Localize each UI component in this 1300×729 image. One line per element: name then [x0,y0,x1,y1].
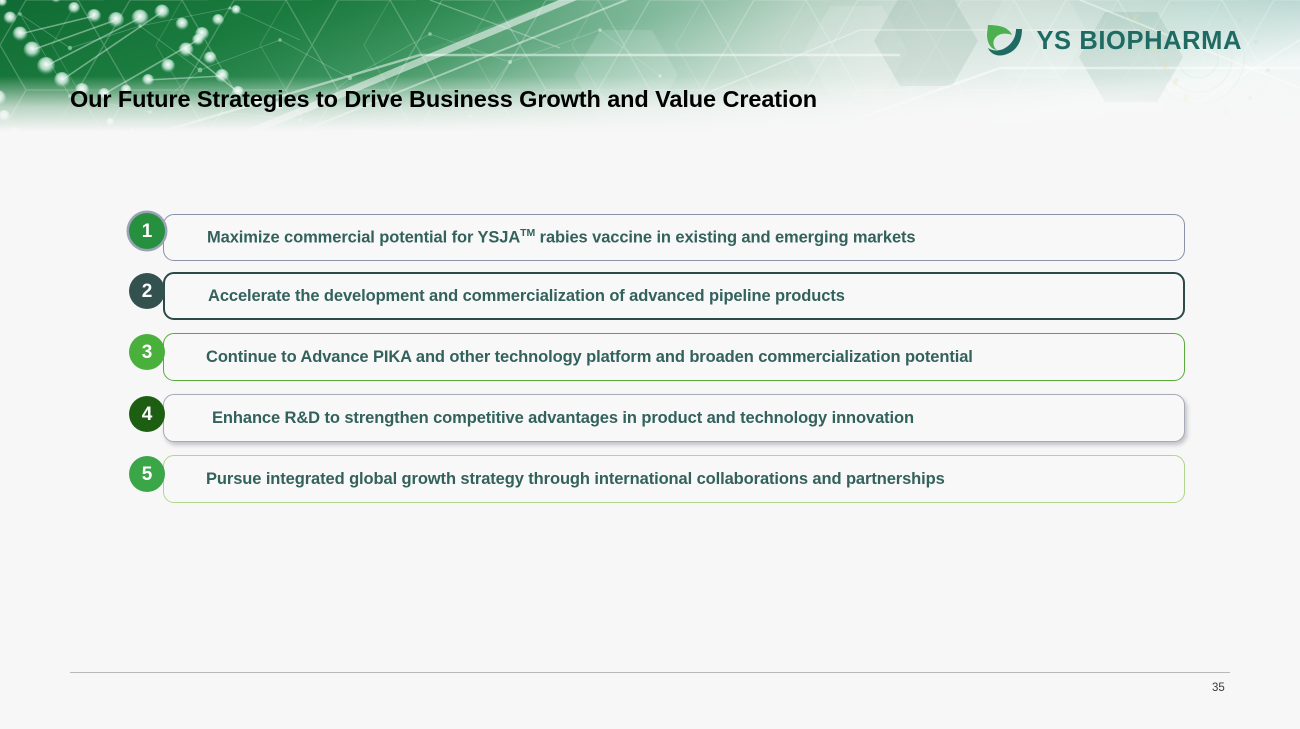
strategy-badge-5: 5 [129,456,165,492]
leaf-swoosh-icon [985,22,1025,60]
strategy-text-1: Maximize commercial potential for YSJATM… [164,227,916,248]
list-item[interactable]: 4 Enhance R&D to strengthen competitive … [0,394,1300,442]
page-number: 35 [1212,682,1225,694]
strategy-badge-3: 3 [129,334,165,370]
page-title: Our Future Strategies to Drive Business … [70,86,817,113]
strategy-pill-5[interactable]: Pursue integrated global growth strategy… [163,455,1185,503]
list-item[interactable]: 5 Pursue integrated global growth strate… [0,455,1300,503]
strategy-text-2: Accelerate the development and commercia… [165,287,845,306]
strategy-list: 1 Maximize commercial potential for YSJA… [0,211,1300,516]
list-item[interactable]: 2 Accelerate the development and commerc… [0,272,1300,320]
list-item[interactable]: 1 Maximize commercial potential for YSJA… [0,211,1300,259]
trademark-superscript: TM [520,227,535,239]
strategy-text-3: Continue to Advance PIKA and other techn… [164,348,973,367]
strategy-pill-3[interactable]: Continue to Advance PIKA and other techn… [163,333,1185,381]
logo-wordmark: YS BIOPHARMA [1036,27,1242,56]
strategy-badge-2: 2 [129,273,165,309]
strategy-text-4: Enhance R&D to strengthen competitive ad… [164,409,914,428]
strategy-pill-1[interactable]: Maximize commercial potential for YSJATM… [163,214,1185,261]
brand-logo: YS BIOPHARMA [985,22,1242,60]
strategy-badge-4: 4 [129,396,165,432]
strategy-text-5: Pursue integrated global growth strategy… [164,470,945,489]
strategy-pill-2[interactable]: Accelerate the development and commercia… [163,272,1185,320]
strategy-pill-4[interactable]: Enhance R&D to strengthen competitive ad… [163,394,1185,442]
strategy-badge-1: 1 [129,213,165,249]
list-item[interactable]: 3 Continue to Advance PIKA and other tec… [0,333,1300,381]
footer-divider [70,672,1230,673]
